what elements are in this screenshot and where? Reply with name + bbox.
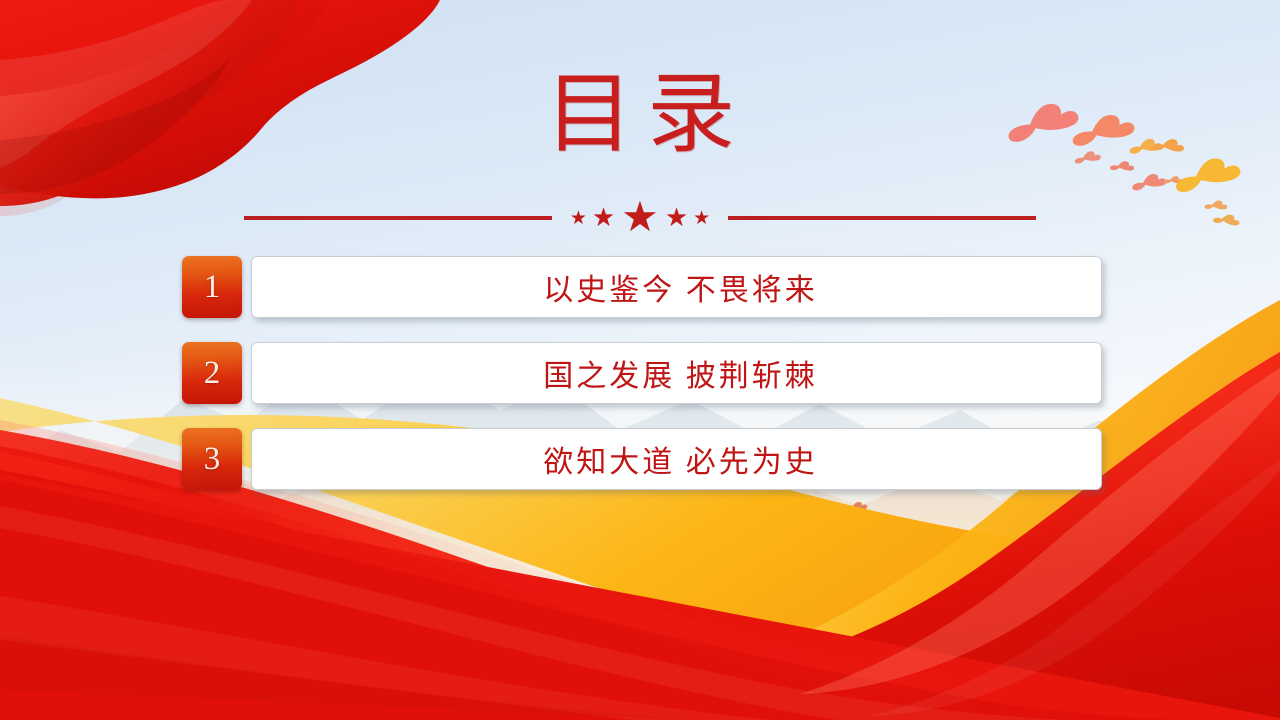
table-of-contents: 1 以史鉴今 不畏将来 2 国之发展 披荆斩棘 3 欲知大道 必先为史 — [182, 256, 1102, 514]
star-icon: ★ — [621, 197, 659, 239]
star-icon: ★ — [570, 209, 587, 228]
presentation-slide: 目录 ★ ★ ★ ★ ★ 1 以史鉴今 不畏将来 2 国之发展 — [0, 0, 1280, 720]
toc-number: 3 — [204, 443, 221, 476]
toc-item-label: 国之发展 披荆斩棘 — [535, 351, 818, 395]
toc-number-badge: 1 — [182, 256, 242, 318]
toc-label-box[interactable]: 欲知大道 必先为史 — [251, 428, 1102, 490]
title-text: 目录 — [0, 72, 1280, 160]
title-divider: ★ ★ ★ ★ ★ — [0, 196, 1280, 240]
toc-number: 2 — [204, 357, 221, 390]
divider-rule-left — [244, 216, 552, 220]
toc-item-label: 以史鉴今 不畏将来 — [535, 265, 818, 309]
star-icon: ★ — [665, 205, 688, 231]
toc-number-badge: 3 — [182, 428, 242, 490]
toc-number-badge: 2 — [182, 342, 242, 404]
toc-label-box[interactable]: 国之发展 披荆斩棘 — [251, 342, 1102, 404]
toc-number: 1 — [204, 271, 221, 304]
star-icon: ★ — [592, 205, 615, 231]
toc-item-3[interactable]: 3 欲知大道 必先为史 — [182, 428, 1102, 490]
toc-item-1[interactable]: 1 以史鉴今 不畏将来 — [182, 256, 1102, 318]
toc-item-label: 欲知大道 必先为史 — [535, 437, 818, 481]
divider-stars: ★ ★ ★ ★ ★ — [552, 197, 728, 239]
page-title: 目录 — [0, 72, 1280, 160]
toc-item-2[interactable]: 2 国之发展 披荆斩棘 — [182, 342, 1102, 404]
divider-rule-right — [728, 216, 1036, 220]
toc-label-box[interactable]: 以史鉴今 不畏将来 — [251, 256, 1102, 318]
star-icon: ★ — [693, 209, 710, 228]
